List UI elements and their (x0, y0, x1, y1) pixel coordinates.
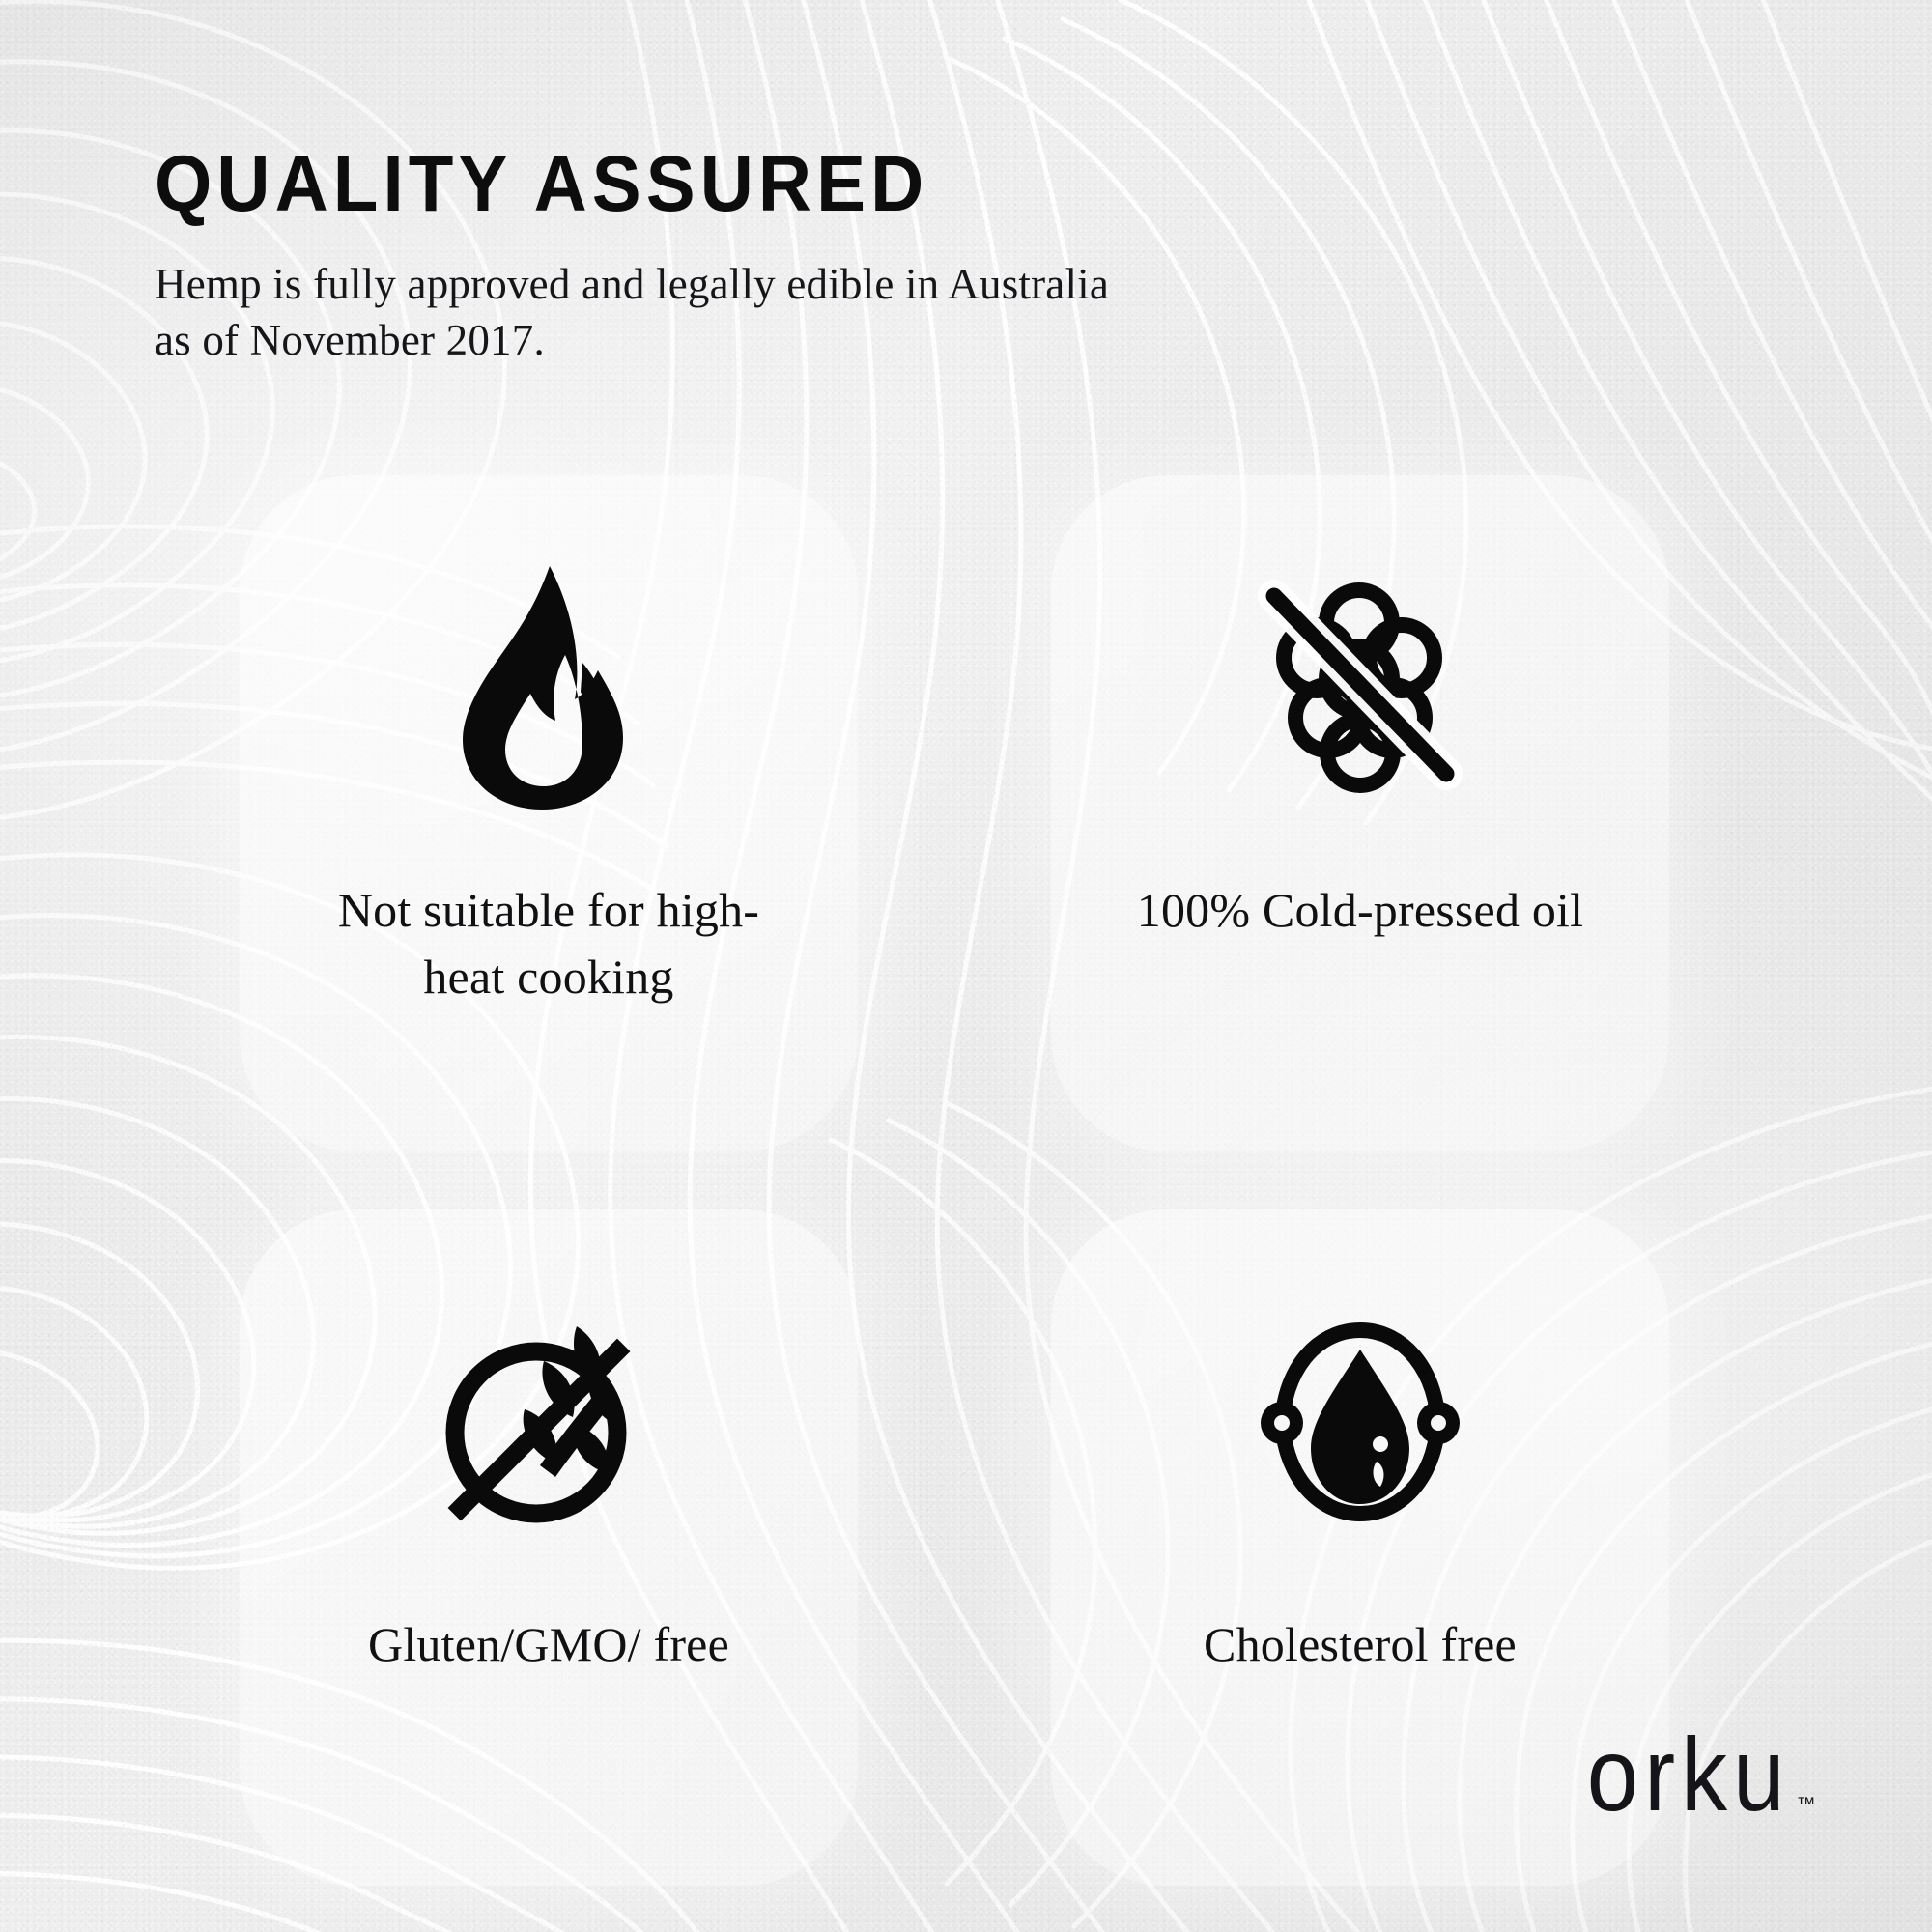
page-subtitle: Hemp is fully approved and legally edibl… (155, 257, 1130, 368)
feature-card-label: Gluten/GMO/ free (368, 1611, 729, 1678)
no-seed-cluster-icon (1239, 543, 1481, 833)
feature-card-gluten-gmo-free: Gluten/GMO/ free (240, 1209, 858, 1886)
feature-card-cholesterol-free: Cholesterol free (1051, 1209, 1669, 1886)
feature-card-high-heat: Not suitable for high-heat cooking (240, 475, 858, 1151)
page-title: QUALITY ASSURED (155, 145, 1214, 224)
flame-icon (438, 543, 660, 833)
logo-wordmark: orku (1587, 1723, 1791, 1828)
feature-card-cold-pressed: 100% Cold-pressed oil (1051, 475, 1669, 1151)
header-block: QUALITY ASSURED Hemp is fully approved a… (155, 145, 1294, 368)
feature-card-label: Cholesterol free (1204, 1611, 1517, 1678)
trademark-symbol: ™ (1797, 1794, 1817, 1816)
feature-card-grid: Not suitable for high-heat cooking (240, 475, 1708, 1886)
no-wheat-icon (428, 1277, 669, 1567)
brand-logo: orku ™ (1587, 1735, 1816, 1828)
feature-card-label: Not suitable for high-heat cooking (307, 877, 790, 1010)
poster-canvas: QUALITY ASSURED Hemp is fully approved a… (0, 0, 1932, 1932)
feature-card-label: 100% Cold-pressed oil (1137, 877, 1583, 944)
droplet-orbit-icon (1239, 1277, 1481, 1567)
